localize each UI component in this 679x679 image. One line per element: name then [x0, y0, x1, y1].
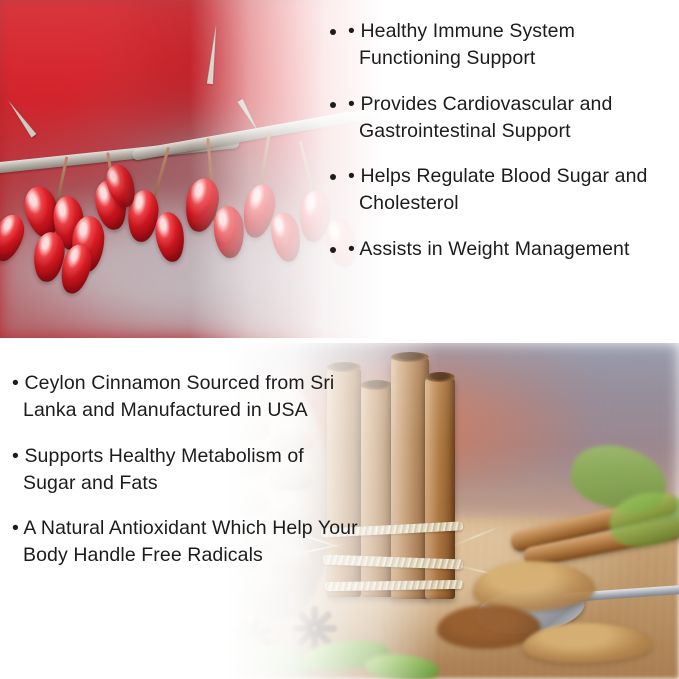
bullet-item: • Assists in Weight Management	[348, 236, 670, 263]
pine-cone-scale	[233, 571, 277, 597]
bullet-item: • Provides Cardiovascular and Gastrointe…	[348, 91, 670, 146]
cinnamon-stick-opening	[391, 352, 429, 362]
bottom-bullet-list: • Ceylon Cinnamon Sourced from Sri Lanka…	[12, 370, 360, 570]
cinnamon-benefits-panel: • Ceylon Cinnamon Sourced from Sri Lanka…	[0, 343, 679, 679]
infographic-canvas: • Healthy Immune System Functioning Supp…	[0, 0, 679, 679]
ground-cinnamon-spill	[523, 623, 653, 663]
barberry-benefits-panel: • Healthy Immune System Functioning Supp…	[0, 0, 679, 338]
panel-divider	[0, 338, 679, 343]
bullet-item: • A Natural Antioxidant Which Help Your …	[12, 515, 360, 570]
ground-cinnamon-heap	[473, 561, 595, 611]
cinnamon-stick-opening	[361, 380, 393, 390]
bullet-item: • Healthy Immune System Functioning Supp…	[348, 18, 670, 73]
cinnamon-stick-opening	[425, 372, 455, 382]
bullet-item: • Supports Healthy Metabolism of Sugar a…	[12, 443, 360, 498]
top-bullet-list: • Healthy Immune System Functioning Supp…	[348, 18, 670, 263]
bullet-item: • Ceylon Cinnamon Sourced from Sri Lanka…	[12, 370, 360, 425]
bullet-item: • Helps Regulate Blood Sugar and Cholest…	[348, 163, 670, 218]
